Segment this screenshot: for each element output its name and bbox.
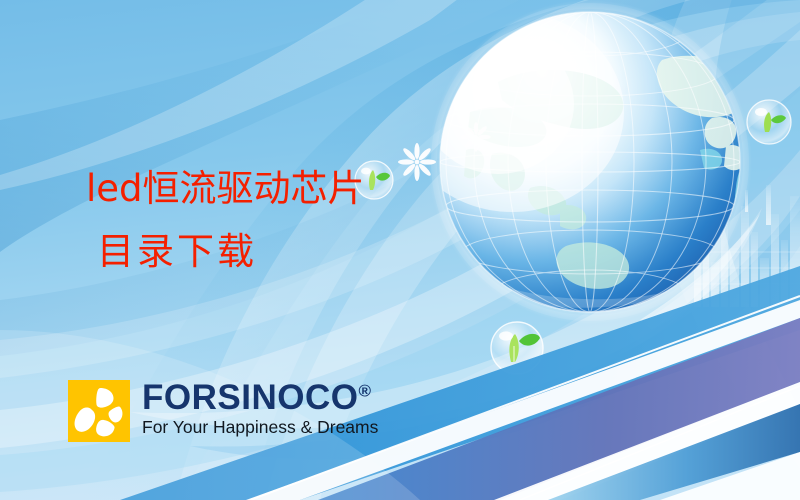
sparkle-star-left (398, 143, 436, 181)
headline-line-2: 目录下载 (97, 233, 257, 270)
logo-wordmark: FORSINOCO® (142, 380, 378, 416)
registered-trademark-icon: ® (358, 381, 371, 400)
company-logo: FORSINOCO® For Your Happiness & Dreams (68, 380, 378, 442)
headline-line-1: led恒流驱动芯片 (86, 170, 365, 207)
logo-text-block: FORSINOCO® For Your Happiness & Dreams (142, 380, 378, 437)
sparkle-star-right (461, 122, 490, 151)
logo-tagline: For Your Happiness & Dreams (142, 417, 378, 437)
banner-canvas: led恒流驱动芯片 目录下载 FORSINOCO® (0, 0, 800, 500)
four-petal-pinwheel-icon (68, 380, 130, 442)
bubble-sprout-top-right (747, 100, 791, 144)
logo-wordmark-text: FORSINOCO (142, 378, 358, 417)
